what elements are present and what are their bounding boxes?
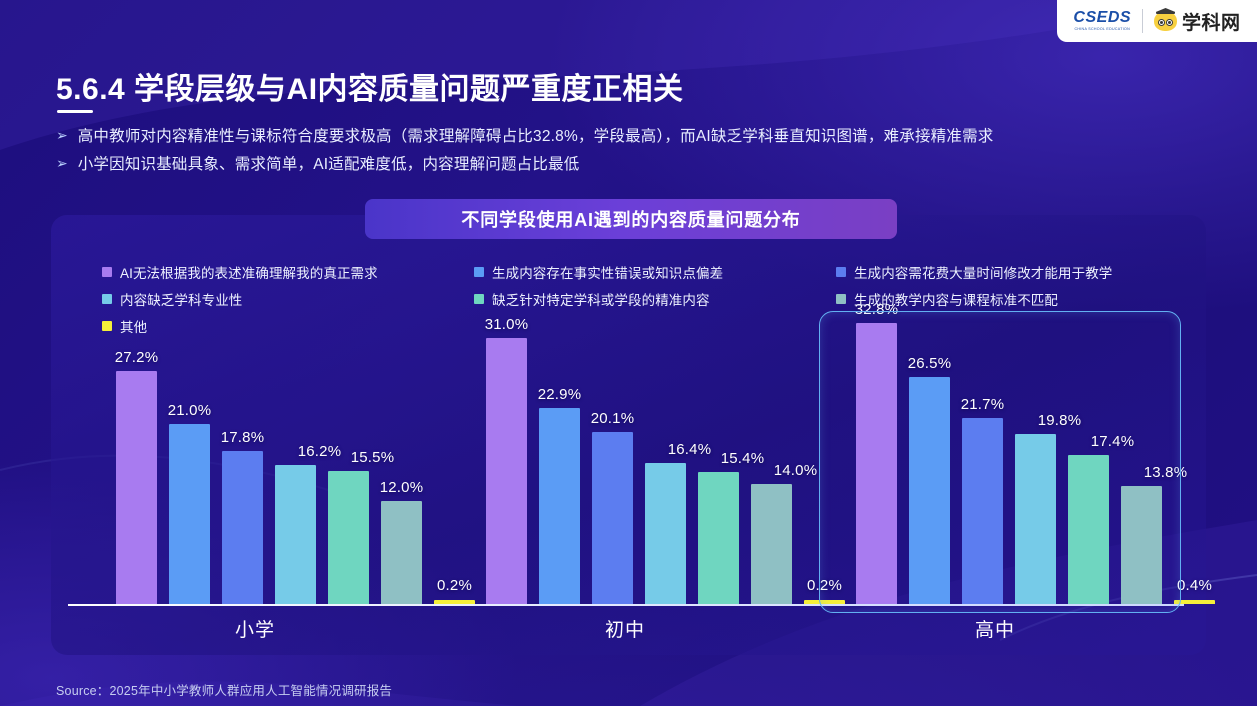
- bar-高中-series2[interactable]: 26.5%: [909, 377, 950, 604]
- bar-slot: 17.8%: [216, 451, 269, 604]
- bar-小学-series6[interactable]: 12.0%: [381, 501, 422, 604]
- bar-slot: 32.8%: [850, 323, 903, 604]
- cseds-logo: CSEDS CHINA SCHOOL EDUCATION: [1073, 10, 1131, 32]
- bar-slot: 17.4%: [1062, 455, 1115, 604]
- bar-value-label: 19.8%: [1038, 412, 1082, 429]
- title-underline-rule: [57, 110, 93, 113]
- cseds-logo-subtext: CHINA SCHOOL EDUCATION: [1074, 28, 1130, 32]
- bar-slot: 31.0%: [480, 338, 533, 604]
- legend-item[interactable]: AI无法根据我的表述准确理解我的真正需求: [102, 258, 474, 285]
- bar-小学-series4[interactable]: 16.2%: [275, 465, 316, 604]
- legend-label: 其他: [120, 316, 147, 336]
- bar-value-label: 0.2%: [437, 577, 472, 594]
- bullet-arrow-icon: ➢: [56, 128, 68, 142]
- logo-divider: [1142, 9, 1143, 33]
- bar-高中-series4[interactable]: 19.8%: [1015, 434, 1056, 604]
- bar-slot: 21.7%: [956, 418, 1009, 604]
- legend-label: 内容缺乏学科专业性: [120, 289, 242, 309]
- bar-slot: 26.5%: [903, 377, 956, 604]
- legend-label: 生成内容需花费大量时间修改才能用于教学: [854, 262, 1112, 282]
- legend-label: 生成内容存在事实性错误或知识点偏差: [492, 262, 723, 282]
- legend-swatch-icon: [474, 294, 484, 304]
- bar-slot: 15.4%: [692, 472, 745, 604]
- legend-swatch-icon: [102, 294, 112, 304]
- bar-小学-series2[interactable]: 21.0%: [169, 424, 210, 604]
- bar-slot: 15.5%: [322, 471, 375, 604]
- bar-value-label: 17.8%: [221, 429, 265, 446]
- bar-高中-series3[interactable]: 21.7%: [962, 418, 1003, 604]
- bar-初中-series4[interactable]: 16.4%: [645, 463, 686, 604]
- list-item: ➢ 高中教师对内容精准性与课标符合度要求极高（需求理解障碍占比32.8%，学段最…: [56, 124, 993, 146]
- bar-slot: 16.2%: [269, 465, 322, 604]
- bar-value-label: 14.0%: [774, 462, 818, 479]
- bar-chart-plot-area: 27.2%21.0%17.8%16.2%15.5%12.0%0.2%31.0%2…: [68, 300, 1188, 606]
- x-axis-label-高中: 高中: [975, 615, 1015, 642]
- chart-title-banner: 不同学段使用AI遇到的内容质量问题分布: [365, 199, 897, 239]
- bar-初中-series2[interactable]: 22.9%: [539, 408, 580, 604]
- source-note: Source：2025年中小学教师人群应用人工智能情况调研报告: [56, 680, 392, 699]
- bar-group-高中: 32.8%26.5%21.7%19.8%17.4%13.8%0.4%: [850, 323, 1221, 604]
- bar-group-初中: 31.0%22.9%20.1%16.4%15.4%14.0%0.2%: [480, 338, 851, 604]
- chart-baseline-axis: [68, 604, 1184, 606]
- bullet-list: ➢ 高中教师对内容精准性与课标符合度要求极高（需求理解障碍占比32.8%，学段最…: [56, 124, 993, 180]
- owl-eye-left-icon: [1158, 19, 1165, 26]
- bar-value-label: 0.2%: [807, 577, 842, 594]
- bar-value-label: 16.4%: [668, 441, 712, 458]
- bar-value-label: 0.4%: [1177, 577, 1212, 594]
- legend-label: 缺乏针对特定学科或学段的精准内容: [492, 289, 710, 309]
- legend-item[interactable]: 生成的教学内容与课程标准不匹配: [836, 285, 1177, 312]
- legend-empty-cell: [474, 312, 836, 339]
- bar-slot: 12.0%: [375, 501, 428, 604]
- bar-value-label: 12.0%: [380, 479, 424, 496]
- legend-swatch-icon: [474, 267, 484, 277]
- bar-高中-series5[interactable]: 17.4%: [1068, 455, 1109, 604]
- bar-group-小学: 27.2%21.0%17.8%16.2%15.5%12.0%0.2%: [110, 371, 481, 604]
- legend-label: 生成的教学内容与课程标准不匹配: [854, 289, 1058, 309]
- legend-item[interactable]: 其他: [102, 312, 474, 339]
- chart-legend: AI无法根据我的表述准确理解我的真正需求生成内容存在事实性错误或知识点偏差生成内…: [102, 258, 1177, 339]
- legend-item[interactable]: 生成内容需花费大量时间修改才能用于教学: [836, 258, 1177, 285]
- list-item: ➢ 小学因知识基础具象、需求简单，AI适配难度低，内容理解问题占比最低: [56, 152, 993, 174]
- bar-slot: 19.8%: [1009, 434, 1062, 604]
- legend-swatch-icon: [102, 267, 112, 277]
- bar-小学-series3[interactable]: 17.8%: [222, 451, 263, 604]
- page-title: 5.6.4 学段层级与AI内容质量问题严重度正相关: [56, 64, 684, 108]
- bar-value-label: 21.7%: [961, 396, 1005, 413]
- cseds-logo-mark: CSEDS: [1073, 10, 1131, 26]
- owl-eye-right-icon: [1166, 19, 1173, 26]
- bar-高中-series6[interactable]: 13.8%: [1121, 486, 1162, 604]
- legend-item[interactable]: 缺乏针对特定学科或学段的精准内容: [474, 285, 836, 312]
- bar-slot: 14.0%: [745, 484, 798, 604]
- bar-高中-series1[interactable]: 32.8%: [856, 323, 897, 604]
- legend-label: AI无法根据我的表述准确理解我的真正需求: [120, 262, 378, 282]
- bar-小学-series5[interactable]: 15.5%: [328, 471, 369, 604]
- bar-value-label: 16.2%: [298, 443, 342, 460]
- bar-value-label: 20.1%: [591, 410, 635, 427]
- legend-swatch-icon: [836, 294, 846, 304]
- bullet-text: 高中教师对内容精准性与课标符合度要求极高（需求理解障碍占比32.8%，学段最高）…: [78, 124, 994, 146]
- bar-slot: 20.1%: [586, 432, 639, 604]
- x-axis-label-小学: 小学: [235, 615, 275, 642]
- bar-value-label: 15.5%: [351, 449, 395, 466]
- bar-slot: 27.2%: [110, 371, 163, 604]
- bar-初中-series3[interactable]: 20.1%: [592, 432, 633, 604]
- xuekewang-logo-text: 学科网: [1182, 8, 1241, 35]
- bar-value-label: 21.0%: [168, 402, 212, 419]
- bar-slot: 21.0%: [163, 424, 216, 604]
- bullet-text: 小学因知识基础具象、需求简单，AI适配难度低，内容理解问题占比最低: [78, 152, 580, 174]
- legend-swatch-icon: [102, 321, 112, 331]
- bar-slot: 22.9%: [533, 408, 586, 604]
- bar-value-label: 17.4%: [1091, 433, 1135, 450]
- bar-value-label: 27.2%: [115, 349, 159, 366]
- bar-初中-series1[interactable]: 31.0%: [486, 338, 527, 604]
- x-axis-labels: 小学初中高中: [68, 615, 1188, 643]
- xuekewang-logo: 学科网: [1154, 8, 1241, 35]
- legend-empty-cell: [836, 312, 1177, 339]
- bar-slot: 13.8%: [1115, 486, 1168, 604]
- bar-slot: 16.4%: [639, 463, 692, 604]
- legend-swatch-icon: [836, 267, 846, 277]
- owl-icon: [1154, 11, 1177, 31]
- legend-item[interactable]: 内容缺乏学科专业性: [102, 285, 474, 312]
- bar-value-label: 26.5%: [908, 355, 952, 372]
- bar-value-label: 15.4%: [721, 450, 765, 467]
- brand-logo-bar: CSEDS CHINA SCHOOL EDUCATION 学科网: [1057, 0, 1257, 42]
- bar-初中-series5[interactable]: 15.4%: [698, 472, 739, 604]
- legend-item[interactable]: 生成内容存在事实性错误或知识点偏差: [474, 258, 836, 285]
- bullet-arrow-icon: ➢: [56, 156, 68, 170]
- x-axis-label-初中: 初中: [605, 615, 645, 642]
- bar-小学-series1[interactable]: 27.2%: [116, 371, 157, 604]
- bar-value-label: 22.9%: [538, 386, 582, 403]
- bar-初中-series6[interactable]: 14.0%: [751, 484, 792, 604]
- bar-value-label: 13.8%: [1144, 464, 1188, 481]
